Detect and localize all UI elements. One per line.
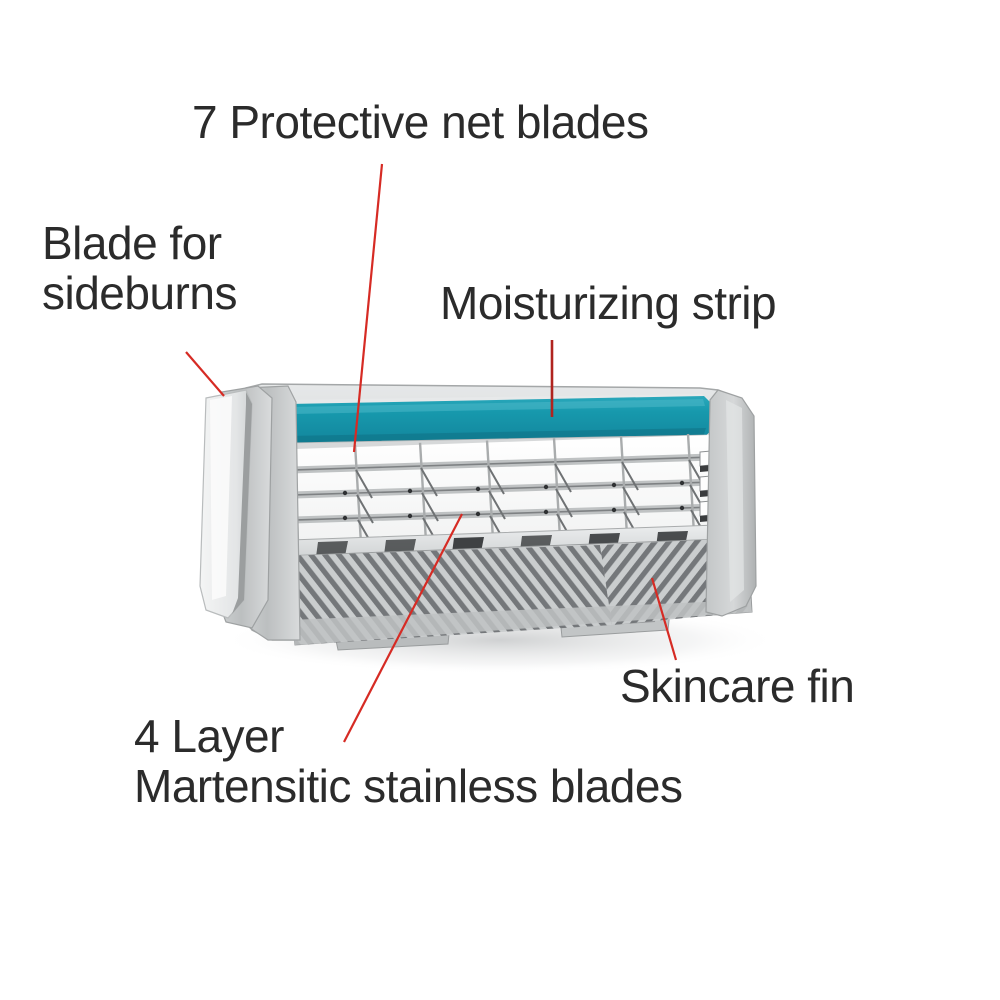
callout-moisturizing-strip: Moisturizing strip: [440, 279, 776, 329]
callout-4-layer-line2: Martensitic stainless blades: [134, 762, 682, 812]
callout-sideburns: Blade forsideburns: [42, 219, 237, 318]
callout-net-blades: 7 Protective net blades: [192, 98, 648, 148]
callout-4-layer-line1: 4 Layer: [134, 710, 284, 762]
diagram-canvas: 7 Protective net blades Blade forsidebur…: [0, 0, 1000, 1000]
razor-cartridge-illustration: [0, 0, 1000, 1000]
side-cap-left: [200, 386, 300, 640]
callout-sideburns-line2: sideburns: [42, 269, 237, 319]
callout-skincare-fin: Skincare fin: [620, 662, 854, 712]
callout-4-layer-blades: 4 LayerMartensitic stainless blades: [134, 712, 682, 811]
side-cap-right: [706, 390, 756, 616]
callout-sideburns-line1: Blade for: [42, 217, 222, 269]
